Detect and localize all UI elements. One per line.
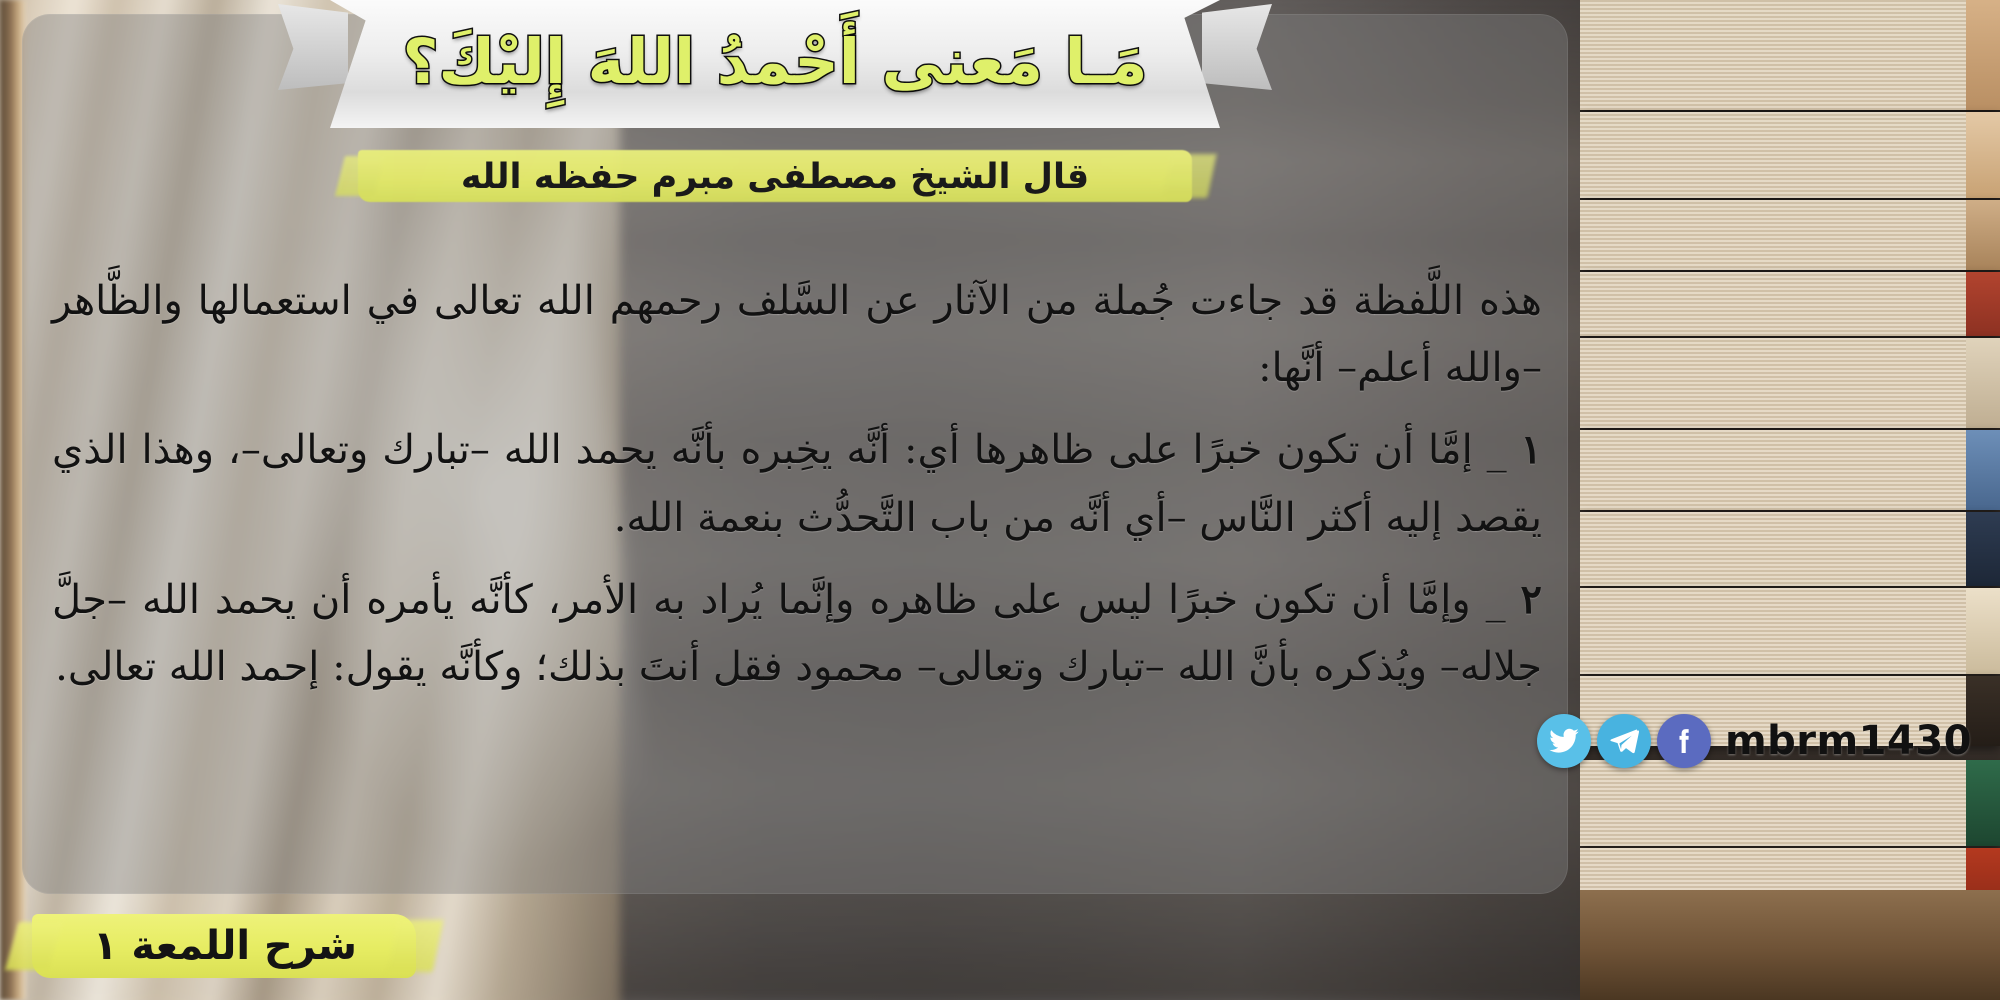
- series-badge: شرح اللمعة ١: [10, 900, 440, 992]
- list-item-number: ٢: [1521, 576, 1542, 623]
- list-item: ٢ _ وإمَّا أن تكون خبرًا ليس على ظاهره و…: [52, 566, 1542, 701]
- badge-label: شرح اللمعة ١: [93, 923, 357, 969]
- subtitle-banner: قال الشيخ مصطفى مبرم حفظه الله: [330, 140, 1220, 214]
- background-right-book-stack: [1580, 0, 2000, 1000]
- telegram-icon[interactable]: [1597, 714, 1651, 768]
- quote-card: مَـا مَعنى أَحْمدُ اللهَ إِليْكَ؟ قال ال…: [0, 0, 2000, 1000]
- background-wood-desk: [1580, 890, 2000, 1000]
- list-item: ١ _ إمَّا أن تكون خبرًا على ظاهرها أي: أ…: [52, 416, 1542, 551]
- title-ribbon: مَـا مَعنى أَحْمدُ اللهَ إِليْكَ؟: [330, 0, 1220, 128]
- twitter-icon[interactable]: [1537, 714, 1591, 768]
- list-item-separator: _: [1486, 577, 1506, 623]
- list-item-text: إمَّا أن تكون خبرًا على ظاهرها أي: أنَّه…: [52, 427, 1542, 540]
- body-text: هذه اللَّفظة قد جاءت جُملة من الآثار عن …: [52, 268, 1542, 715]
- social-handle-row: mbrm1430: [1537, 714, 1972, 768]
- subtitle-text: قال الشيخ مصطفى مبرم حفظه الله: [461, 157, 1089, 197]
- facebook-icon[interactable]: [1657, 714, 1711, 768]
- body-intro: هذه اللَّفظة قد جاءت جُملة من الآثار عن …: [52, 268, 1542, 402]
- social-handle-text: mbrm1430: [1725, 718, 1972, 764]
- list-item-number: ١: [1521, 426, 1542, 473]
- list-item-separator: _: [1487, 427, 1507, 473]
- page-title: مَـا مَعنى أَحْمدُ اللهَ إِليْكَ؟: [330, 0, 1220, 128]
- list-item-text: وإمَّا أن تكون خبرًا ليس على ظاهره وإنَّ…: [52, 577, 1542, 690]
